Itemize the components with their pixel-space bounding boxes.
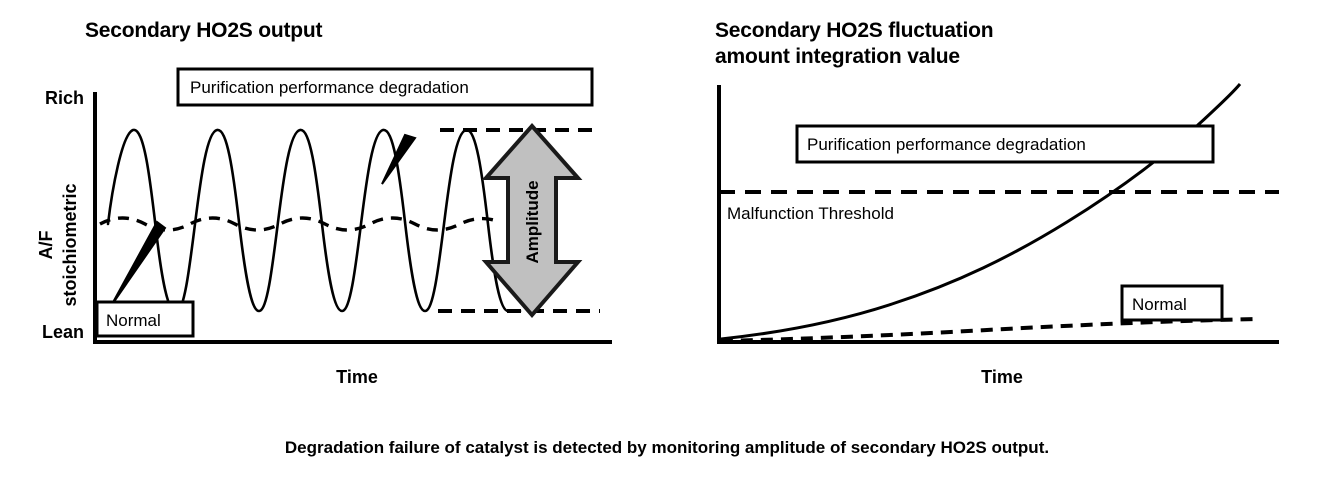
y-axis-label-lean: Lean bbox=[42, 322, 84, 342]
y-axis-title-line2: stoichiometric bbox=[60, 183, 80, 306]
left-chart-svg: Rich Lean A/F stoichiometric Purificatio… bbox=[0, 0, 667, 420]
left-chart-panel: Secondary HO2S output Rich Lean A/F stoi… bbox=[0, 0, 667, 420]
callout-normal[interactable]: Normal bbox=[97, 222, 193, 336]
right-chart-panel: Secondary HO2S fluctuationamount integra… bbox=[667, 0, 1334, 420]
callout-normal-pointer bbox=[111, 222, 165, 306]
callout-degradation-label: Purification performance degradation bbox=[190, 78, 469, 97]
diagram-figure: Secondary HO2S output Rich Lean A/F stoi… bbox=[0, 0, 1334, 488]
degradation-waveform bbox=[108, 130, 520, 312]
right-x-axis-label: Time bbox=[981, 367, 1023, 387]
callout-degradation-right-label: Purification performance degradation bbox=[807, 135, 1086, 154]
amplitude-arrow-label: Amplitude bbox=[523, 180, 542, 263]
callout-normal-right-label: Normal bbox=[1132, 295, 1187, 314]
right-chart-svg: Malfunction Threshold Purification perfo… bbox=[667, 0, 1334, 420]
callout-normal-label: Normal bbox=[106, 311, 161, 330]
malfunction-threshold-label: Malfunction Threshold bbox=[727, 204, 894, 223]
left-x-axis-label: Time bbox=[336, 367, 378, 387]
callout-degradation-right[interactable]: Purification performance degradation bbox=[797, 126, 1213, 162]
y-axis-label-rich: Rich bbox=[45, 88, 84, 108]
normal-integration-curve bbox=[721, 319, 1257, 341]
y-axis-title-line1: A/F bbox=[36, 231, 56, 260]
callout-normal-right[interactable]: Normal bbox=[1122, 286, 1222, 320]
amplitude-arrow: Amplitude bbox=[486, 126, 578, 315]
y-axis-title: A/F stoichiometric bbox=[36, 183, 80, 306]
figure-caption: Degradation failure of catalyst is detec… bbox=[0, 438, 1334, 458]
